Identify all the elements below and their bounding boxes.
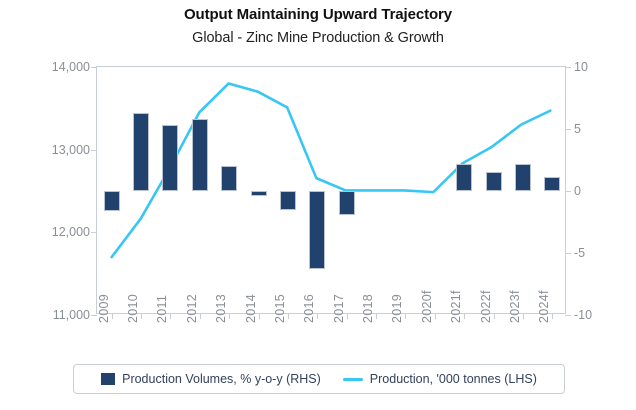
y-axis-left-tick bbox=[91, 67, 97, 68]
bar-2023f bbox=[515, 164, 531, 191]
y-axis-right-tick bbox=[565, 191, 571, 192]
y-axis-right-label: 0 bbox=[574, 184, 581, 198]
legend-item-production-volumes[interactable]: Production Volumes, % y-o-y (RHS) bbox=[101, 372, 321, 386]
x-axis-tick bbox=[376, 313, 377, 319]
legend-bar-swatch-icon bbox=[101, 373, 115, 385]
bar-2013 bbox=[221, 166, 237, 191]
x-axis-label: 2016 bbox=[302, 294, 316, 323]
x-axis-label: 2010 bbox=[126, 294, 140, 323]
y-axis-right-tick bbox=[565, 253, 571, 254]
legend-line-swatch-icon bbox=[343, 378, 363, 381]
y-axis-right-label: -5 bbox=[574, 246, 585, 260]
y-axis-right-label: 5 bbox=[574, 122, 581, 136]
x-axis-label: 2022f bbox=[479, 290, 493, 323]
y-axis-right-label: 10 bbox=[574, 60, 588, 74]
x-axis-tick bbox=[259, 313, 260, 319]
chart-subtitle: Global - Zinc Mine Production & Growth bbox=[0, 30, 636, 46]
bar-2014 bbox=[251, 191, 267, 196]
x-axis-tick bbox=[288, 313, 289, 319]
y-axis-right-tick bbox=[565, 129, 571, 130]
bar-2022f bbox=[486, 172, 502, 191]
x-axis-tick bbox=[494, 313, 495, 319]
x-axis-tick bbox=[435, 313, 436, 319]
x-axis-tick bbox=[405, 313, 406, 319]
x-axis-label: 2015 bbox=[273, 294, 287, 323]
x-axis-label: 2019 bbox=[390, 294, 404, 323]
x-axis-tick bbox=[464, 313, 465, 319]
bar-2012 bbox=[192, 119, 208, 191]
x-axis-tick bbox=[317, 313, 318, 319]
bar-2010 bbox=[133, 113, 149, 191]
chart-figure: Output Maintaining Upward Trajectory Glo… bbox=[0, 0, 636, 410]
x-axis-label: 2014 bbox=[244, 294, 258, 323]
x-axis-tick bbox=[523, 313, 524, 319]
x-axis-label: 2023f bbox=[508, 290, 522, 323]
y-axis-left-label: 13,000 bbox=[52, 143, 90, 157]
x-axis-label: 2012 bbox=[185, 294, 199, 323]
bar-2017 bbox=[339, 191, 355, 215]
legend-label-production-volumes: Production Volumes, % y-o-y (RHS) bbox=[122, 372, 321, 386]
plot-area: 14,00013,00012,00011,0001050-5-102009201… bbox=[96, 66, 566, 314]
x-axis-tick bbox=[229, 313, 230, 319]
x-axis-label: 2011 bbox=[155, 295, 169, 323]
legend-label-production-tonnes: Production, '000 tonnes (LHS) bbox=[370, 372, 537, 386]
y-axis-left-tick bbox=[91, 150, 97, 151]
chart-title: Output Maintaining Upward Trajectory bbox=[0, 6, 636, 23]
x-axis-tick bbox=[112, 313, 113, 319]
legend-item-production-tonnes[interactable]: Production, '000 tonnes (LHS) bbox=[343, 372, 537, 386]
chart-legend: Production Volumes, % y-o-y (RHS) Produc… bbox=[73, 364, 565, 394]
y-axis-left-label: 14,000 bbox=[52, 60, 90, 74]
x-axis-tick bbox=[170, 313, 171, 319]
bar-2015 bbox=[280, 191, 296, 210]
bar-2011 bbox=[162, 125, 178, 191]
x-axis-label: 2013 bbox=[214, 294, 228, 323]
x-axis-label: 2024f bbox=[537, 290, 551, 323]
y-axis-left-label: 11,000 bbox=[53, 308, 90, 322]
x-axis-tick bbox=[141, 313, 142, 319]
x-axis-tick bbox=[552, 313, 553, 319]
x-axis-tick bbox=[347, 313, 348, 319]
y-axis-right-tick bbox=[565, 67, 571, 68]
x-axis-tick bbox=[200, 313, 201, 319]
x-axis-label: 2020f bbox=[420, 290, 434, 323]
y-axis-left-tick bbox=[91, 232, 97, 233]
y-axis-left-label: 12,000 bbox=[52, 225, 90, 239]
x-axis-label: 2009 bbox=[97, 294, 111, 323]
x-axis-label: 2018 bbox=[361, 294, 375, 323]
bar-2016 bbox=[309, 191, 325, 269]
plot-inner: 14,00013,00012,00011,0001050-5-102009201… bbox=[97, 67, 565, 313]
y-axis-right-label: -10 bbox=[574, 308, 592, 322]
x-axis-label: 2021f bbox=[449, 290, 463, 323]
bar-2021f bbox=[456, 164, 472, 191]
bar-2009 bbox=[104, 191, 120, 211]
x-axis-label: 2017 bbox=[332, 294, 346, 323]
bar-2024f bbox=[544, 177, 560, 191]
y-axis-right-tick bbox=[565, 315, 571, 316]
